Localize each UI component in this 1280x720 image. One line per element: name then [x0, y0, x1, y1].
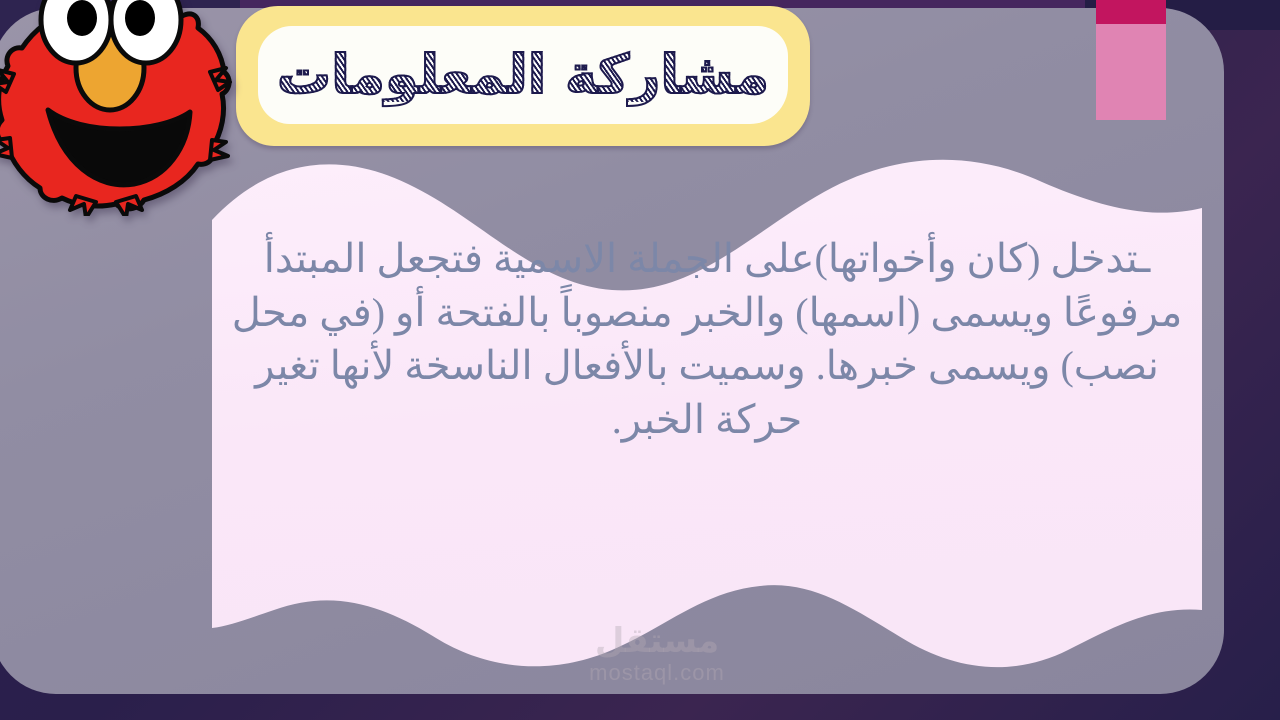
body-paragraph: ـتدخل (كان وأخواتها)على الجملة الاسمية ف… — [230, 232, 1184, 446]
wavy-content-card: ـتدخل (كان وأخواتها)على الجملة الاسمية ف… — [212, 158, 1202, 688]
page-title: مشاركة المعلومات — [236, 48, 810, 102]
magenta-accent-bar-top — [1096, 0, 1166, 26]
elmo-character-icon — [0, 0, 232, 216]
magenta-accent-bar-bottom — [1096, 24, 1166, 120]
slide-canvas: ـتدخل (كان وأخواتها)على الجملة الاسمية ف… — [0, 0, 1280, 720]
title-sticker: مشاركة المعلومات — [236, 6, 810, 146]
